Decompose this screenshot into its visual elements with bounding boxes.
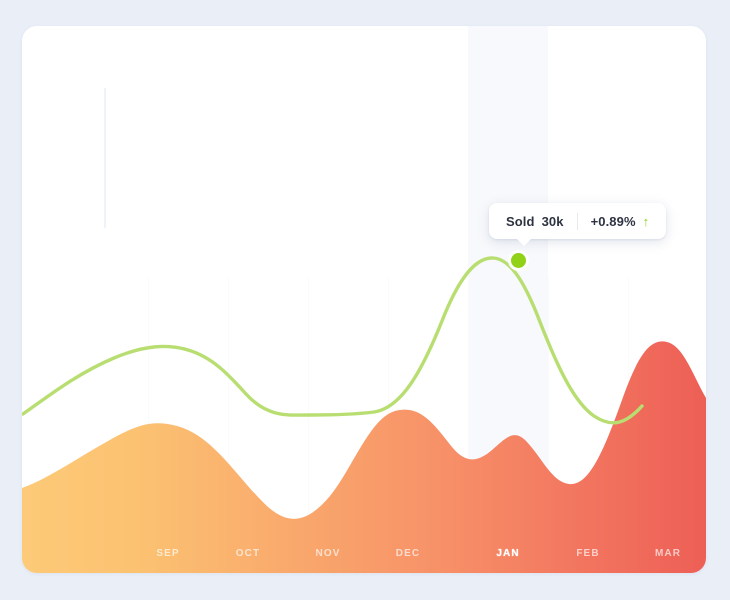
tooltip-delta: +0.89%: [591, 214, 636, 229]
x-axis-label-sep[interactable]: SEP: [128, 548, 208, 559]
x-axis-label-dec[interactable]: DEC: [368, 548, 448, 559]
data-tooltip: Sold 30k +0.89% ↑: [489, 203, 666, 239]
x-axis-label-oct[interactable]: OCT: [208, 548, 288, 559]
x-axis-label-mar[interactable]: MAR: [628, 548, 706, 559]
trend-up-arrow-icon: ↑: [643, 215, 650, 228]
tooltip-metric: Sold 30k: [506, 214, 564, 229]
x-axis-label-nov[interactable]: NOV: [288, 548, 368, 559]
tooltip-change: +0.89% ↑: [591, 214, 650, 229]
chart-plot-area: [22, 26, 706, 573]
tooltip-value: 30k: [542, 214, 564, 229]
chart-card: SEP OCT NOV DEC JAN FEB MAR Sold 30k +0.…: [22, 26, 706, 573]
x-axis-label-feb[interactable]: FEB: [548, 548, 628, 559]
sold-line-path: [23, 258, 642, 423]
screenshot-stage: SEP OCT NOV DEC JAN FEB MAR Sold 30k +0.…: [0, 0, 730, 600]
volume-area-path: [22, 341, 706, 573]
tooltip-divider: [577, 213, 578, 230]
active-data-point-marker[interactable]: [511, 253, 526, 268]
x-axis-label-jan[interactable]: JAN: [468, 548, 548, 559]
tooltip-label: Sold: [506, 214, 535, 229]
